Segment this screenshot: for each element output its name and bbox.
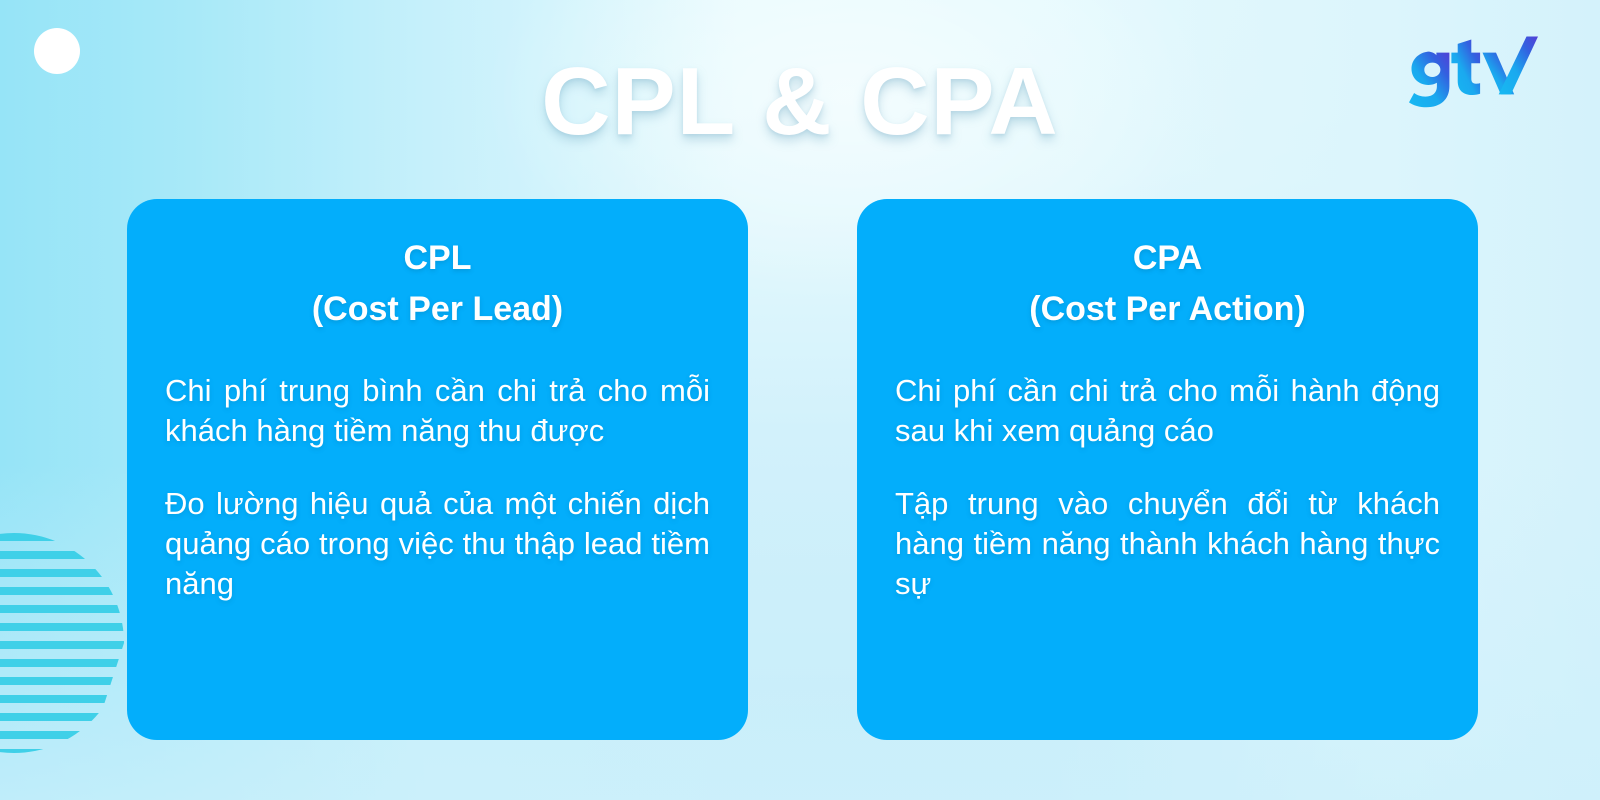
card-cpa: CPA (Cost Per Action) Chi phí cần chi tr… <box>857 199 1478 740</box>
card-cpl-paragraph-2: Đo lường hiệu quả của một chiến dịch quả… <box>165 484 710 603</box>
cards-row: CPL (Cost Per Lead) Chi phí trung bình c… <box>127 199 1478 740</box>
card-cpa-paragraph-1: Chi phí cần chi trả cho mỗi hành động sa… <box>895 371 1440 450</box>
card-cpa-body: Chi phí cần chi trả cho mỗi hành động sa… <box>895 371 1440 603</box>
slide-canvas: CPL & CPA CPL (Cost Per Lead) Chi phí tr… <box>0 0 1600 800</box>
card-cpa-heading: CPA (Cost Per Action) <box>895 233 1440 335</box>
card-cpl-paragraph-1: Chi phí trung bình cần chi trả cho mỗi k… <box>165 371 710 450</box>
page-title: CPL & CPA <box>0 52 1600 153</box>
card-cpl-heading: CPL (Cost Per Lead) <box>165 233 710 335</box>
card-cpl-body: Chi phí trung bình cần chi trả cho mỗi k… <box>165 371 710 603</box>
card-cpl: CPL (Cost Per Lead) Chi phí trung bình c… <box>127 199 748 740</box>
card-cpa-paragraph-2: Tập trung vào chuyển đổi từ khách hàng t… <box>895 484 1440 603</box>
